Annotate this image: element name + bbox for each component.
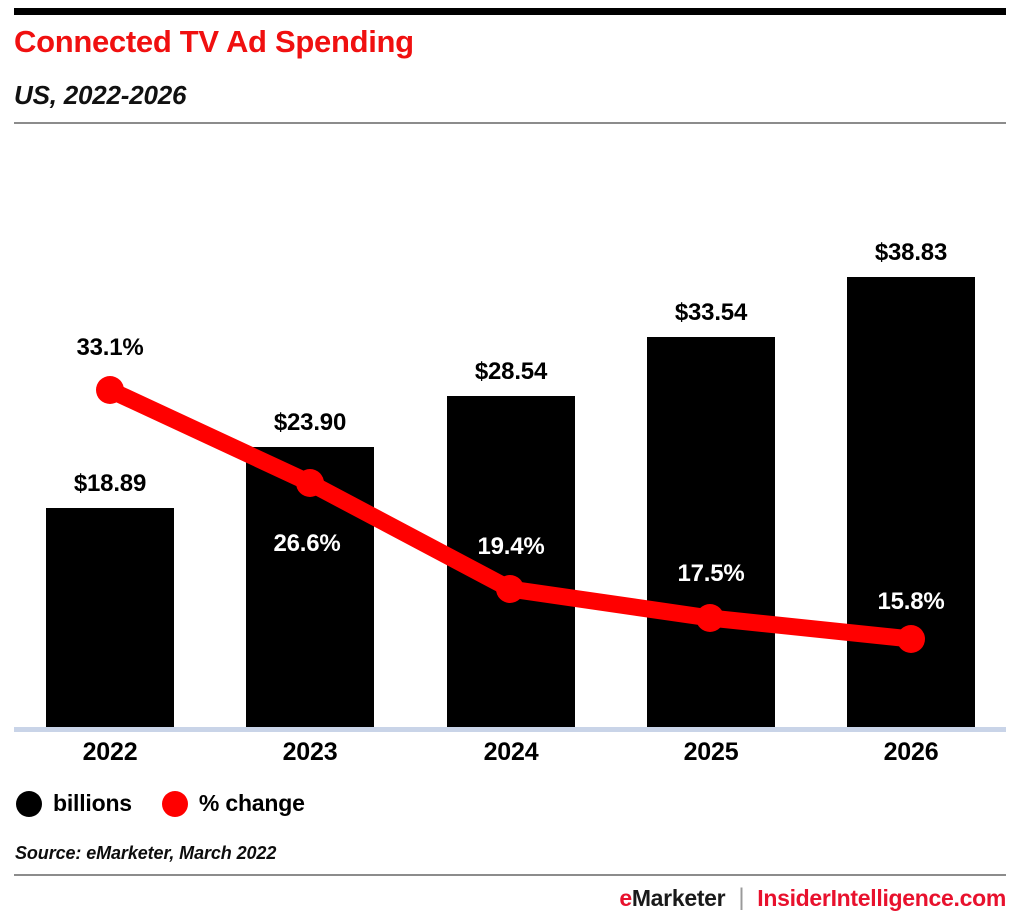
bar-2026[interactable] [847, 277, 975, 727]
x-axis-tick-2025: 2025 [611, 738, 811, 767]
x-axis-tick-2022: 2022 [10, 738, 210, 767]
bar-value-label: $38.83 [811, 239, 1011, 267]
bar-2022[interactable] [46, 508, 174, 727]
chart-legend: billions % change [16, 790, 305, 817]
x-axis-line [14, 727, 1006, 732]
legend-item-billions[interactable]: billions [16, 790, 132, 817]
bar-2025[interactable] [647, 337, 775, 727]
footer-divider-rule [14, 874, 1006, 876]
bar-2023[interactable] [246, 447, 374, 727]
brand-emarketer[interactable]: eMarketer [619, 885, 725, 912]
brand-marketer-text: Marketer [632, 885, 726, 911]
x-axis-tick-2026: 2026 [811, 738, 1011, 767]
legend-label-billions: billions [53, 790, 132, 817]
percent-change-label: 17.5% [611, 560, 811, 588]
percent-change-label: 15.8% [811, 588, 1011, 616]
plot-area: $18.89$23.90$28.54$33.54$38.83 33.1%26.6… [0, 0, 1020, 920]
source-note: Source: eMarketer, March 2022 [15, 843, 276, 864]
bar-value-label: $23.90 [210, 409, 410, 437]
footer-pipe-divider: | [738, 884, 744, 912]
x-axis-tick-2024: 2024 [411, 738, 611, 767]
black-circle-icon [16, 791, 42, 817]
percent-change-label: 33.1% [10, 334, 210, 362]
bar-value-label: $28.54 [411, 358, 611, 386]
bar-value-label: $18.89 [10, 470, 210, 498]
footer-branding: eMarketer | InsiderIntelligence.com [619, 884, 1006, 912]
percent-change-label: 19.4% [411, 533, 611, 561]
bar-value-label: $33.54 [611, 299, 811, 327]
bar-2024[interactable] [447, 396, 575, 727]
percent-change-label: 26.6% [207, 530, 407, 558]
brand-e-letter: e [619, 885, 632, 911]
footer-site-link[interactable]: InsiderIntelligence.com [757, 885, 1006, 912]
x-axis-tick-2023: 2023 [210, 738, 410, 767]
legend-item-percent-change[interactable]: % change [162, 790, 305, 817]
red-circle-icon [162, 791, 188, 817]
chart-canvas: Connected TV Ad Spending US, 2022-2026 $… [0, 0, 1020, 920]
legend-label-percent-change: % change [199, 790, 305, 817]
data-point-marker[interactable] [96, 376, 124, 404]
